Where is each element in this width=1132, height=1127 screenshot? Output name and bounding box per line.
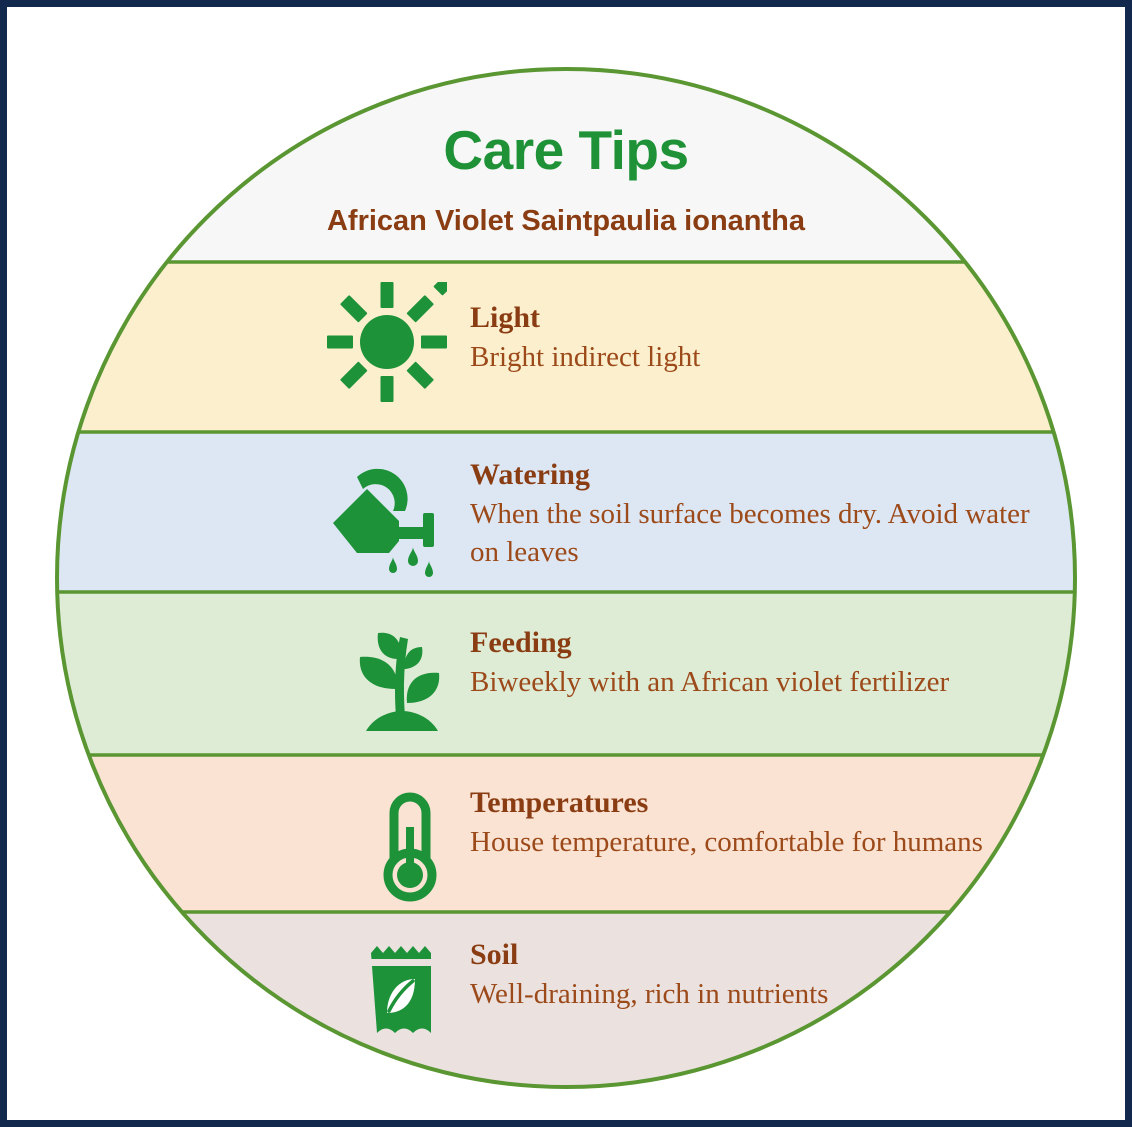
section-heading: Light [470,300,1030,335]
section-heading: Temperatures [470,785,1030,820]
thermometer-icon [350,785,470,905]
section-watering-text: Watering When the soil surface becomes d… [470,457,1030,572]
section-description: Well-draining, rich in nutrients [470,976,1030,1014]
infographic-page: Care Tips African Violet Saintpaulia ion… [0,0,1132,1127]
section-heading: Watering [470,457,1030,492]
section-description: Biweekly with an African violet fertiliz… [470,664,1030,702]
section-description: House temperature, comfortable for human… [470,824,1030,862]
section-feeding-text: Feeding Biweekly with an African violet … [470,625,1030,702]
plant-name-subtitle: African Violet Saintpaulia ionantha [55,207,1077,236]
section-temperatures-text: Temperatures House temperature, comforta… [470,785,1030,862]
soil-bag-icon [343,937,463,1057]
section-soil-text: Soil Well-draining, rich in nutrients [470,937,1030,1014]
watering-can-icon [327,465,447,585]
care-tips-circle: Care Tips African Violet Saintpaulia ion… [55,67,1077,1089]
sun-icon [327,282,447,402]
page-title: Care Tips [55,123,1077,178]
section-light-text: Light Bright indirect light [470,300,1030,377]
seedling-icon [340,619,460,739]
section-heading: Soil [470,937,1030,972]
section-heading: Feeding [470,625,1030,660]
section-description: When the soil surface becomes dry. Avoid… [470,496,1030,571]
section-description: Bright indirect light [470,339,1030,377]
header: Care Tips African Violet Saintpaulia ion… [55,67,1077,262]
